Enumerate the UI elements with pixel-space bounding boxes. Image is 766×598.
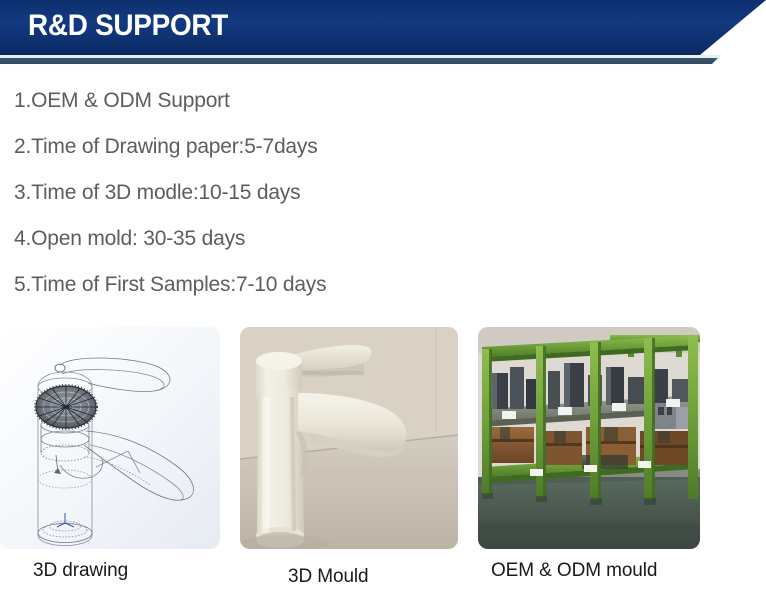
page-title: R&D SUPPORT xyxy=(28,5,228,47)
white-faucet-prototype-photo xyxy=(240,327,458,549)
list-item: 2.Time of Drawing paper:5-7days xyxy=(14,124,714,170)
cad-faucet-wireframe-icon xyxy=(0,327,220,549)
list-item: 4.Open mold: 30-35 days xyxy=(14,216,714,262)
page-header: R&D SUPPORT xyxy=(0,0,766,62)
list-item: 5.Time of First Samples:7-10 days xyxy=(14,262,714,308)
gallery-caption: OEM & ODM mould xyxy=(491,560,657,582)
list-item: 1.OEM & ODM Support xyxy=(14,78,714,124)
gallery-image-3d-mould xyxy=(240,327,458,549)
gallery-caption: 3D drawing xyxy=(33,560,128,582)
header-divider-light xyxy=(0,55,766,58)
gallery-image-3d-drawing xyxy=(0,327,220,549)
warehouse-mould-racks-photo xyxy=(478,327,700,549)
header-divider-dark xyxy=(0,58,766,64)
gallery-image-oem-odm-mould xyxy=(478,327,700,549)
gallery-caption: 3D Mould xyxy=(288,566,369,588)
list-item: 3.Time of 3D modle:10-15 days xyxy=(14,170,714,216)
rd-support-list: 1.OEM & ODM Support 2.Time of Drawing pa… xyxy=(14,78,714,308)
